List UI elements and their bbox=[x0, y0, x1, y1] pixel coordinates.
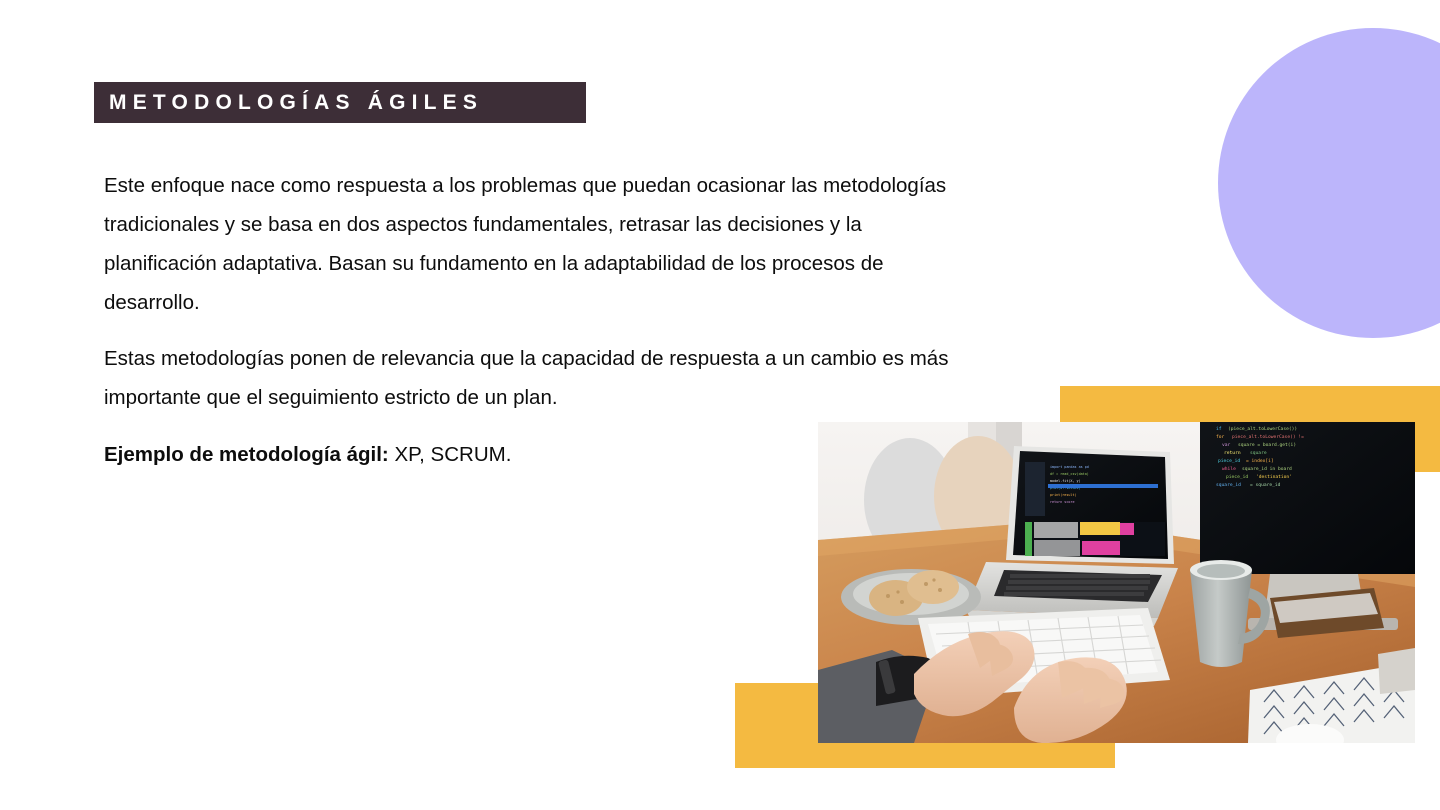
svg-text:df = read_csv(data): df = read_csv(data) bbox=[1050, 472, 1089, 476]
svg-text:piece_id: piece_id bbox=[1226, 474, 1248, 480]
svg-text:var: var bbox=[1222, 443, 1231, 448]
svg-text:for: for bbox=[1216, 434, 1225, 440]
svg-text:model.fit(X, y): model.fit(X, y) bbox=[1050, 479, 1081, 483]
example-label: Ejemplo de metodología ágil: bbox=[104, 443, 389, 466]
svg-text:square = board.get(i): square = board.get(i) bbox=[1238, 442, 1296, 448]
example-value: XP, SCRUM. bbox=[389, 443, 512, 466]
slide-title-bar: METODOLOGÍAS ÁGILES bbox=[94, 82, 586, 123]
svg-text:while: while bbox=[1222, 466, 1236, 472]
paragraph-example: Ejemplo de metodología ágil: XP, SCRUM. bbox=[104, 435, 954, 474]
svg-text:square: square bbox=[1250, 451, 1267, 456]
paragraph-2: Estas metodologías ponen de relevancia q… bbox=[104, 339, 954, 417]
svg-text:piece_id: piece_id bbox=[1218, 458, 1240, 464]
slide-body: Este enfoque nace como respuesta a los p… bbox=[104, 166, 954, 474]
svg-text:= square_id: = square_id bbox=[1250, 482, 1281, 488]
svg-text:square_id in board: square_id in board bbox=[1242, 466, 1292, 472]
svg-text:if: if bbox=[1216, 426, 1222, 432]
slide: if(piece_alt.toLowerCase()) forpiece_alt… bbox=[0, 0, 1440, 810]
svg-text:piece_alt.toLowerCase() !=: piece_alt.toLowerCase() != bbox=[1232, 434, 1304, 440]
purple-circle-decoration bbox=[1218, 28, 1440, 338]
svg-text:import pandas as pd: import pandas as pd bbox=[1050, 465, 1089, 469]
svg-text:print(result): print(result) bbox=[1050, 493, 1077, 497]
svg-text:return score: return score bbox=[1050, 500, 1075, 504]
svg-text:= index[i]: = index[i] bbox=[1246, 458, 1274, 464]
page-title: METODOLOGÍAS ÁGILES bbox=[94, 91, 483, 115]
svg-text:return: return bbox=[1224, 450, 1241, 456]
svg-text:'destination': 'destination' bbox=[1256, 474, 1292, 480]
svg-text:(piece_alt.toLowerCase()): (piece_alt.toLowerCase()) bbox=[1228, 426, 1297, 432]
paragraph-1: Este enfoque nace como respuesta a los p… bbox=[104, 166, 954, 322]
svg-text:square_id: square_id bbox=[1216, 482, 1241, 488]
